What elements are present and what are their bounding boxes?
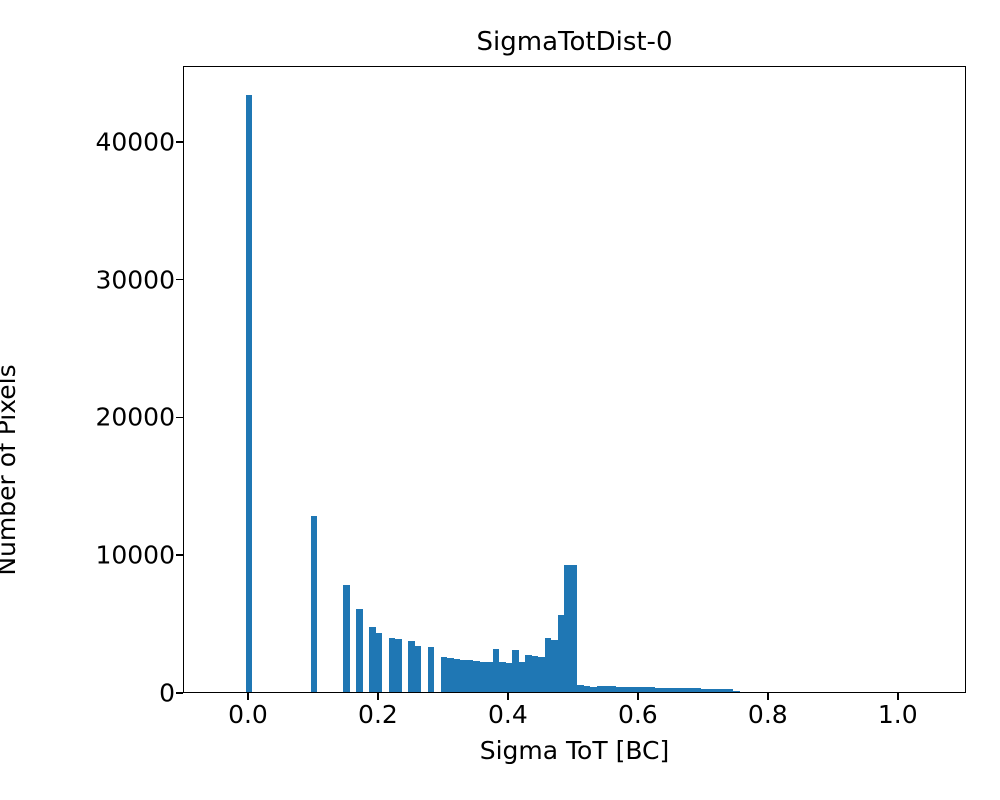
histogram-bar (662, 688, 668, 692)
histogram-bar (519, 662, 525, 692)
histogram-bar (538, 657, 544, 692)
x-tick-label: 0.0 (178, 700, 318, 729)
histogram-bar (532, 656, 538, 692)
histogram-bar (603, 686, 609, 692)
histogram-bar (655, 688, 661, 692)
y-tick-label: 10000 (15, 541, 175, 570)
y-axis-label: Number of Pixels (0, 300, 21, 640)
histogram-bar (714, 689, 720, 692)
histogram-bar (493, 649, 499, 692)
histogram-bar (727, 689, 733, 692)
histogram-bar (506, 663, 512, 692)
histogram-bar (584, 686, 590, 692)
y-tick-label: 20000 (15, 403, 175, 432)
y-axis-ticks: 010000200003000040000 (0, 0, 175, 800)
histogram-bar (564, 565, 570, 692)
x-tick-mark (247, 693, 249, 700)
histogram-bar (707, 689, 713, 692)
histogram-bar (376, 633, 382, 692)
y-tick-mark (176, 141, 183, 143)
histogram-bar (369, 627, 375, 692)
x-tick-mark (507, 693, 509, 700)
histogram-bar (649, 687, 655, 692)
histogram-bar (675, 688, 681, 692)
y-tick-label: 40000 (15, 127, 175, 156)
chart-title: SigmaTotDist-0 (183, 26, 966, 58)
histogram-bar (545, 638, 551, 692)
histogram-bar (571, 565, 577, 692)
x-tick-mark (377, 693, 379, 700)
histogram-bar (629, 687, 635, 692)
x-tick-label: 0.8 (698, 700, 838, 729)
histogram-bar (389, 638, 395, 692)
histogram-bar (681, 688, 687, 692)
y-tick-label: 30000 (15, 265, 175, 294)
x-tick-label: 0.4 (438, 700, 578, 729)
x-tick-label: 1.0 (828, 700, 968, 729)
histogram-bar (447, 658, 453, 692)
y-tick-mark (176, 554, 183, 556)
histogram-bar (577, 685, 583, 692)
histogram-bar (558, 615, 564, 692)
histogram-bar (688, 688, 694, 692)
histogram-bar (486, 662, 492, 692)
histogram-bar (499, 662, 505, 692)
y-tick-mark (176, 692, 183, 694)
chart-figure: SigmaTotDist-0 010000200003000040000 Num… (0, 0, 1000, 800)
histogram-bar (610, 686, 616, 692)
histogram-bar (356, 609, 362, 692)
y-tick-mark (176, 279, 183, 281)
y-tick-label: 0 (15, 679, 175, 708)
histogram-bar (642, 687, 648, 692)
x-tick-mark (767, 693, 769, 700)
histogram-bar (701, 689, 707, 692)
histogram-bar (415, 646, 421, 692)
histogram-bar (343, 585, 349, 692)
histogram-bar (512, 650, 518, 692)
histogram-bar (246, 95, 252, 692)
histogram-bar (551, 640, 557, 692)
histogram-bar (467, 660, 473, 692)
histogram-bar (454, 659, 460, 692)
plot-area (183, 66, 966, 693)
x-tick-label: 0.2 (308, 700, 448, 729)
x-tick-mark (897, 693, 899, 700)
histogram-bar (590, 687, 596, 693)
histogram-bar (395, 639, 401, 692)
histogram-bar (694, 688, 700, 692)
histogram-bar (311, 516, 317, 692)
x-tick-mark (637, 693, 639, 700)
histogram-bars (184, 67, 965, 692)
x-axis-label: Sigma ToT [BC] (183, 736, 966, 765)
histogram-bar (441, 657, 447, 692)
histogram-bar (428, 647, 434, 692)
histogram-bar (408, 641, 414, 692)
histogram-bar (480, 662, 486, 692)
histogram-bar (636, 687, 642, 692)
histogram-bar (616, 687, 622, 693)
histogram-bar (460, 660, 466, 692)
histogram-bar (733, 691, 739, 692)
y-tick-mark (176, 417, 183, 419)
x-tick-label: 0.6 (568, 700, 708, 729)
histogram-bar (597, 686, 603, 692)
